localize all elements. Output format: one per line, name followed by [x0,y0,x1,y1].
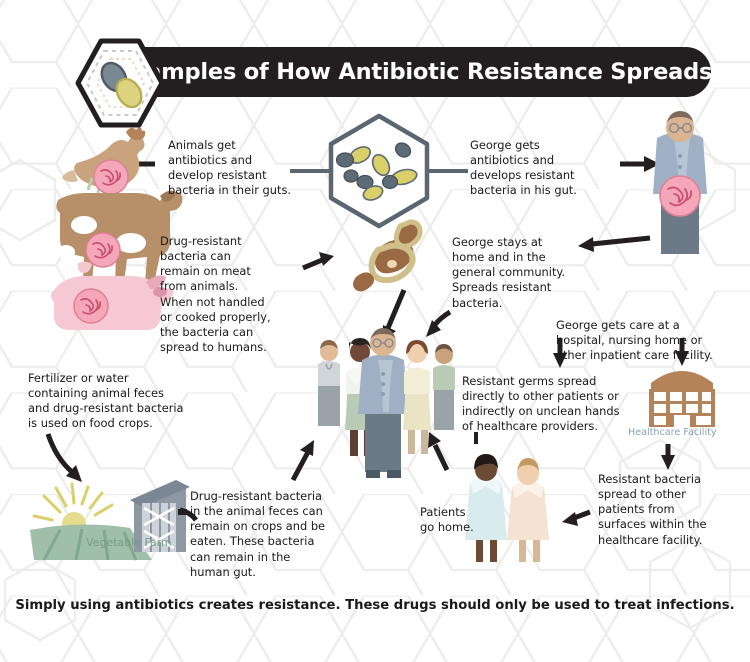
arrow-home-to-community [426,312,450,337]
callout-crops: Drug-resistant bacteria in the animal fe… [190,489,340,580]
infographic-canvas: Examples of How Antibiotic Resistance Sp… [0,0,750,662]
community-people-icon [318,328,455,478]
arrow-to-george [620,156,660,172]
arrow-george-to-home [578,237,650,252]
callout-animals: Animals get antibiotics and develop resi… [168,138,308,199]
footer-message: Simply using antibiotics creates resista… [0,598,750,613]
callout-patients-go-home: Patients go home. [420,505,510,535]
arrow-patients-to-community [428,432,447,470]
hexagon-pills-icon [74,37,166,129]
arrow-fertilizer-to-farm [48,434,82,482]
bacteria-circle-icon [660,176,700,216]
callout-george-top: George gets antibiotics and develops res… [470,138,615,199]
hospital-building-icon [649,371,715,427]
callout-fertilizer: Fertilizer or water containing animal fe… [28,371,186,432]
meat-cuts-icon [353,220,422,292]
bacteria-circle-icon [86,233,120,267]
bacteria-circle-icon [74,289,108,323]
hexagon-antibiotics-icon [331,116,427,226]
callout-meat: Drug-resistant bacteria can remain on me… [160,234,310,355]
page-title: Examples of How Antibiotic Resistance Sp… [118,47,711,97]
arrow-crops-to-community [293,440,314,480]
callout-resistant-germs: Resistant germs spread directly to other… [462,374,622,435]
arrow-hospital-to-surfaces [661,444,675,470]
callout-surfaces: Resistant bacteria spread to other patie… [598,472,738,548]
bacteria-circle-icon [94,160,128,194]
george-person-icon [653,111,707,254]
arrow-surfaces-to-patients [562,512,590,526]
callout-george-care: George gets care at a hospital, nursing … [556,318,721,363]
callout-george-home: George stays at home and in the general … [452,235,572,311]
arrow-crops-marker [178,509,187,515]
healthcare-facility-label: Healthcare Facility [628,427,748,438]
pig-icon [51,275,174,330]
vegetable-farm-label: Vegetable Farm [86,536,196,549]
